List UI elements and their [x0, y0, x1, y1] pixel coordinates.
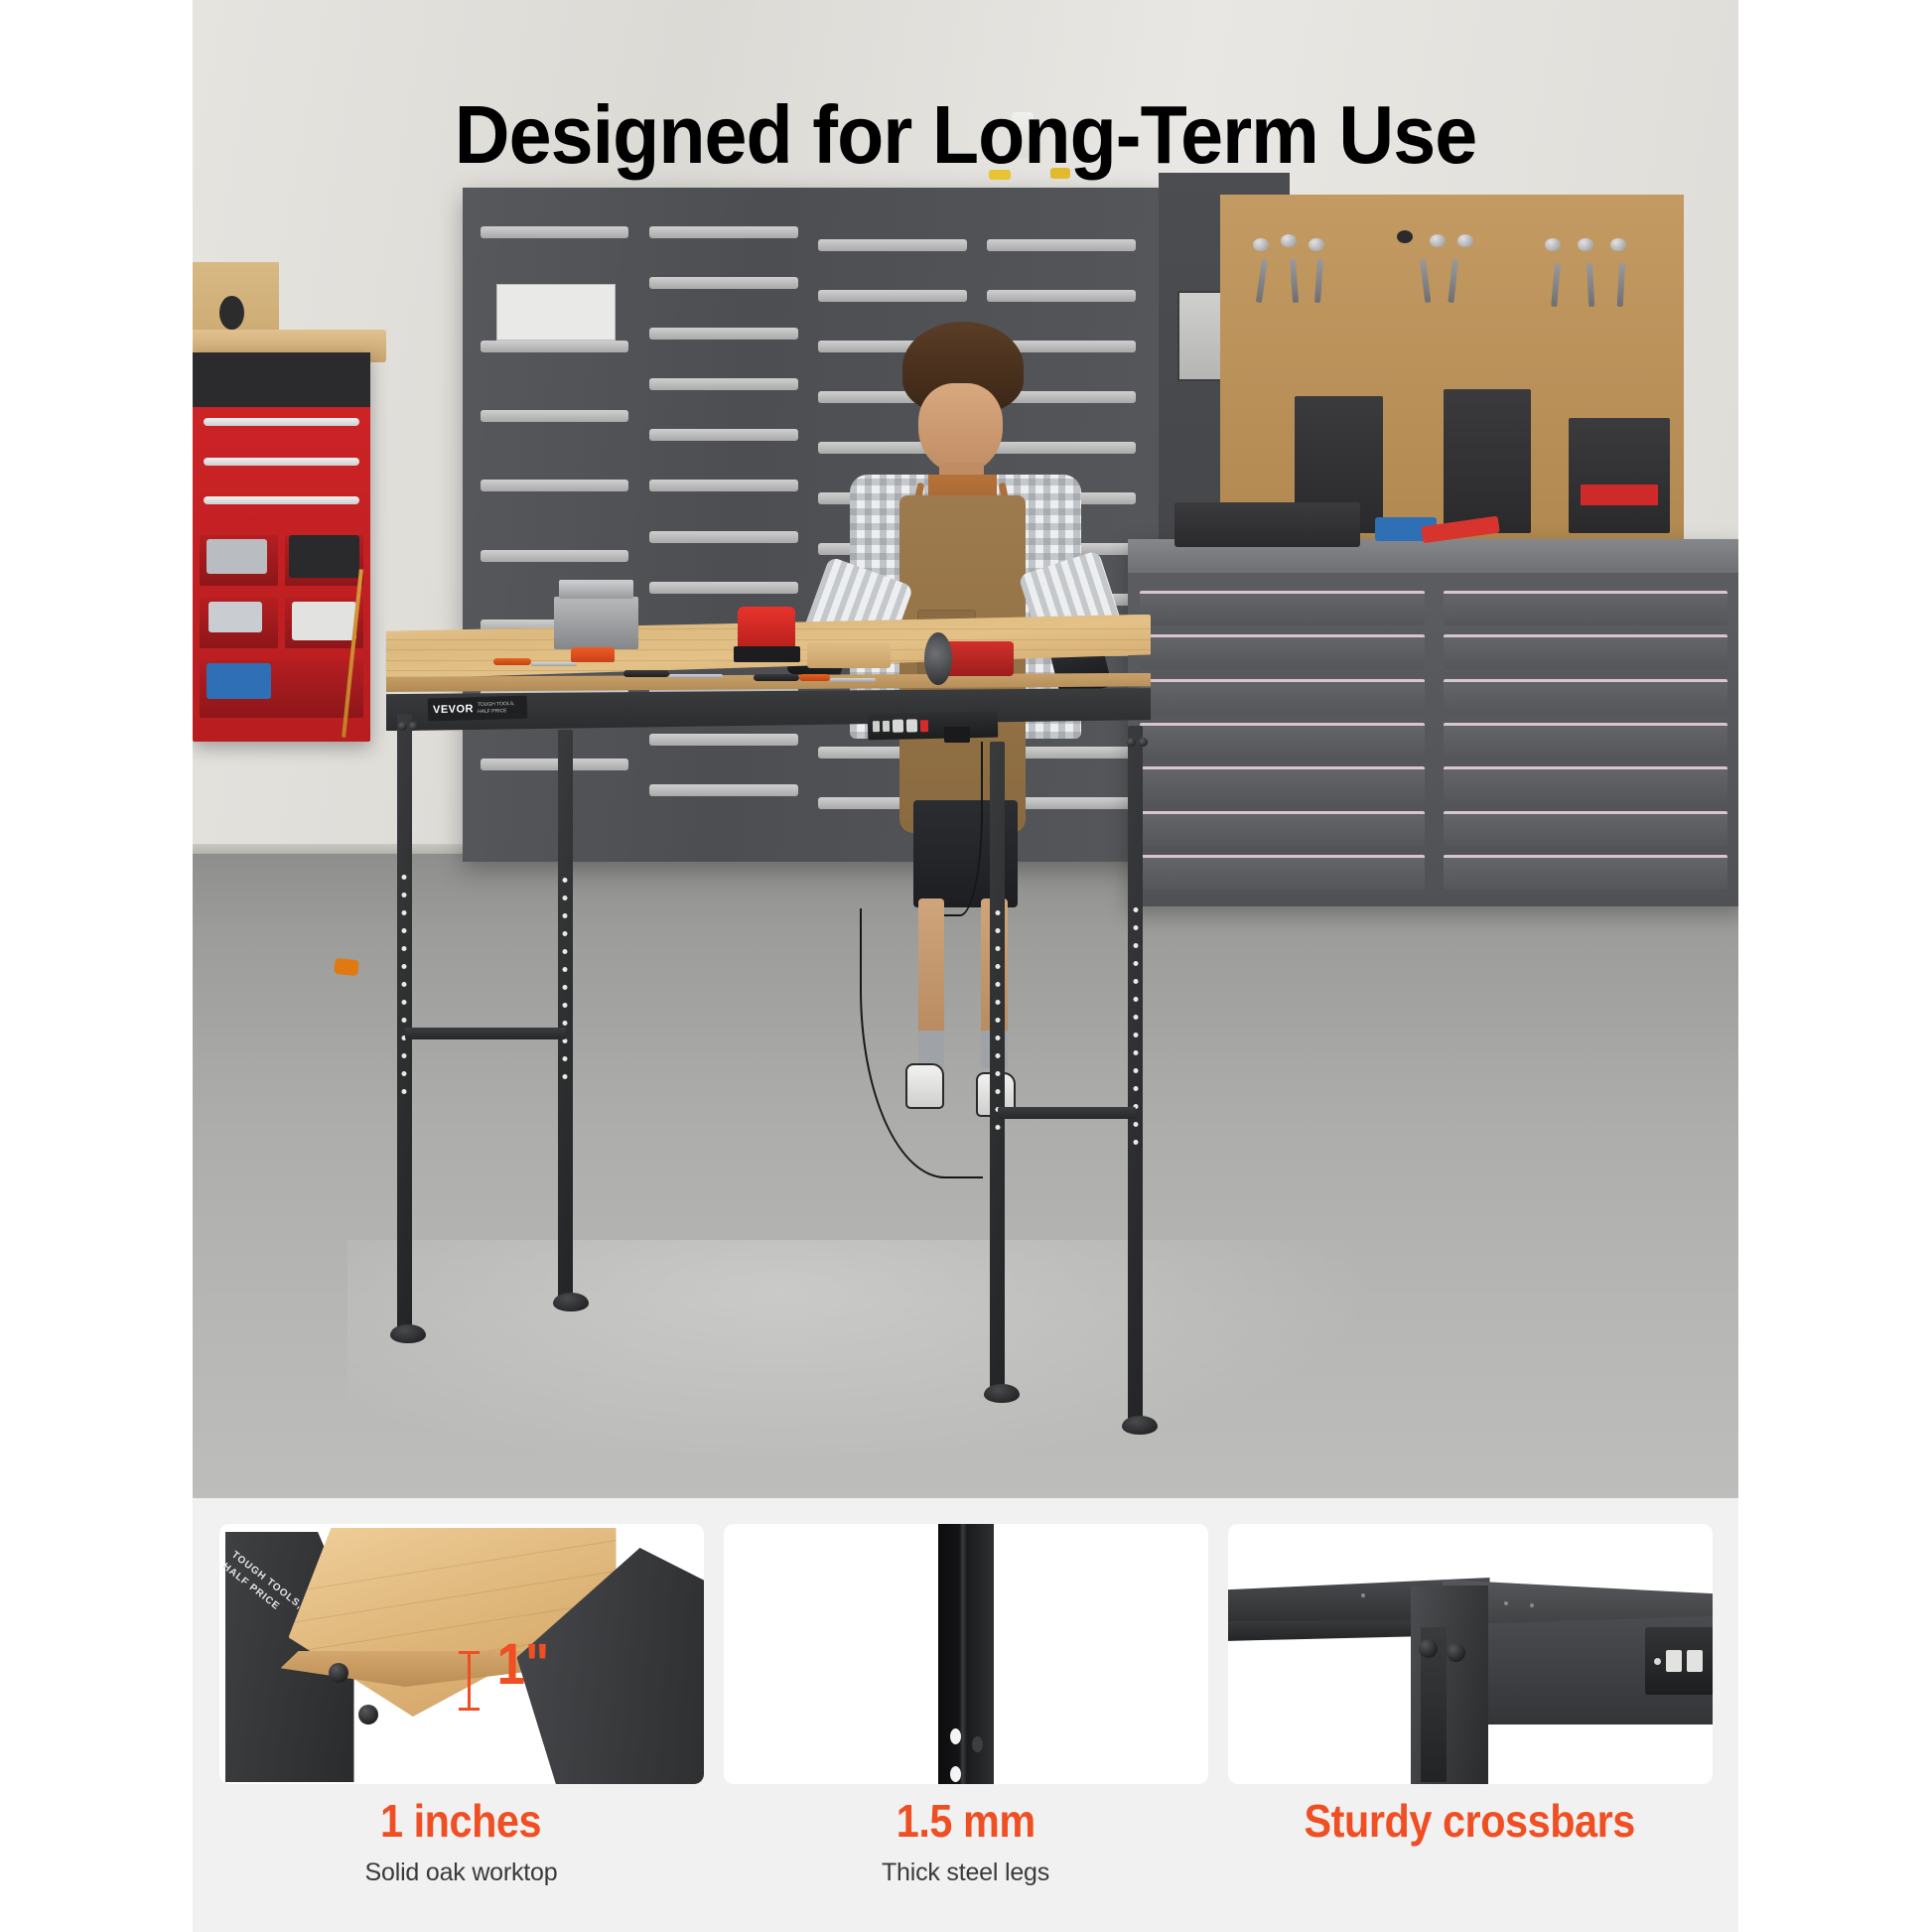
height-adjust-holes — [1133, 907, 1138, 1158]
vevor-brand-plate: VEVOR TOUGH TOOLS, HALF PRICE — [428, 695, 528, 721]
frame-bolt — [1139, 738, 1148, 747]
grinder-disc — [924, 632, 952, 685]
broom-head — [334, 958, 359, 976]
power-outlet-strip — [868, 711, 999, 739]
power-socket — [1666, 1650, 1682, 1672]
ratchet-shaft — [669, 674, 723, 678]
red-tool-cart — [193, 352, 370, 742]
thickness-dimension-line — [468, 1651, 471, 1711]
height-adjust-holes — [402, 875, 407, 1107]
pegboard — [1220, 195, 1684, 554]
leg-back-left — [558, 730, 573, 1302]
leg-back-right — [990, 742, 1005, 1393]
cabinet-label — [496, 284, 617, 341]
vise-base — [571, 647, 615, 662]
feature-highlights-section: TOUGH TOOLS, HALF PRICE 1" — [193, 1498, 1738, 1932]
ratchet-handle — [623, 670, 669, 677]
feature-card-worktop: TOUGH TOOLS, HALF PRICE 1" — [219, 1524, 704, 1784]
crossbar-right — [998, 1107, 1136, 1120]
frame-bolt — [398, 722, 407, 731]
tool-tray — [1174, 502, 1360, 547]
leveling-foot — [390, 1324, 426, 1343]
power-socket — [1687, 1650, 1703, 1672]
leg-front-left — [397, 714, 412, 1333]
screwdriver — [754, 674, 799, 681]
screwdriver-shaft — [830, 678, 876, 682]
bench-vise — [554, 597, 638, 649]
height-adjust-holes — [563, 878, 568, 1092]
frame-bolt — [1447, 1643, 1465, 1662]
feature-card-steel-leg — [724, 1524, 1208, 1784]
feature-labels-row: 1 inches Solid oak worktop 1.5 mm Thick … — [193, 1796, 1738, 1887]
crossbar-left — [405, 1028, 566, 1040]
power-cord — [860, 908, 982, 1178]
feature-label-crossbars: Sturdy crossbars — [1228, 1796, 1713, 1887]
power-socket — [893, 720, 903, 733]
steel-leg-closeup — [938, 1524, 994, 1784]
cart-label-strip — [193, 352, 370, 407]
feature-label-steel-leg: 1.5 mm Thick steel legs — [724, 1796, 1208, 1887]
feature-label-worktop: 1 inches Solid oak worktop — [219, 1796, 704, 1887]
screwdriver — [493, 658, 532, 665]
screwdriver-grip — [799, 674, 830, 681]
vise-jaw — [559, 580, 633, 599]
feature-cards-row: TOUGH TOOLS, HALF PRICE 1" — [193, 1524, 1738, 1784]
plugged-adapter — [944, 727, 970, 743]
usb-port — [883, 721, 890, 732]
face — [918, 383, 1003, 474]
indicator-dot — [1654, 1658, 1661, 1665]
power-switch — [920, 720, 928, 732]
right-workbench-cabinet — [1128, 539, 1738, 906]
wood-board — [807, 642, 892, 668]
leveling-foot — [553, 1293, 589, 1311]
plank-hole — [219, 296, 243, 330]
power-cord — [944, 742, 983, 916]
leg-front-right — [1128, 726, 1143, 1425]
frame-bolt — [409, 722, 418, 731]
power-outlet-closeup — [1645, 1627, 1713, 1695]
frame-bolt — [1419, 1639, 1438, 1658]
sander-pad — [734, 646, 800, 662]
power-socket — [906, 719, 917, 732]
page-title: Designed for Long-Term Use — [246, 87, 1684, 183]
leveling-foot — [984, 1384, 1020, 1403]
brand-name: VEVOR — [433, 703, 474, 716]
feature-title: 1 inches — [380, 1796, 541, 1847]
frame-bolt — [358, 1705, 378, 1725]
workbench-product: VEVOR TOUGH TOOLS, HALF PRICE — [386, 615, 1152, 1409]
feature-subtitle: Solid oak worktop — [219, 1859, 704, 1887]
frame-bolt — [329, 1663, 348, 1683]
feature-card-crossbars — [1228, 1524, 1713, 1784]
hero-product-photo: VEVOR TOUGH TOOLS, HALF PRICE — [193, 0, 1738, 1498]
thickness-callout-label: 1" — [496, 1631, 549, 1698]
orbital-sander — [738, 607, 795, 650]
screwdriver-shaft — [531, 662, 577, 666]
leveling-foot — [1122, 1416, 1158, 1435]
feature-subtitle: Thick steel legs — [724, 1859, 1208, 1887]
usb-port — [873, 721, 880, 732]
brand-tagline-line2: HALF PRICE — [478, 708, 507, 715]
angle-grinder — [937, 641, 1014, 676]
feature-title: Sturdy crossbars — [1305, 1796, 1635, 1847]
feature-title: 1.5 mm — [897, 1796, 1035, 1847]
